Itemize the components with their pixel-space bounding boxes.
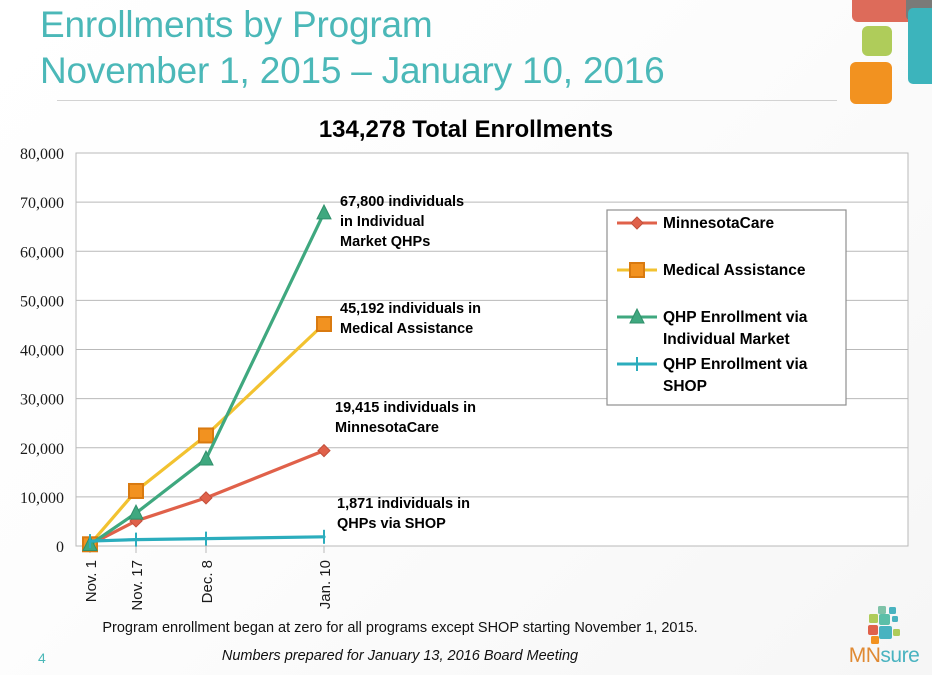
annotation-line: in Individual <box>340 214 425 230</box>
x-axis-tick-label: Nov. 17 <box>129 560 146 611</box>
data-point-marker <box>317 317 331 331</box>
y-axis-tick-label: 20,000 <box>20 441 64 458</box>
mnsure-logo-mark <box>838 604 930 646</box>
annotation-line: Medical Assistance <box>340 321 473 337</box>
annotation-line: 67,800 individuals <box>340 194 464 210</box>
legend-label: QHP Enrollment via <box>663 309 808 326</box>
data-point-marker <box>129 484 143 498</box>
annotation-line: 19,415 individuals in <box>335 400 476 416</box>
annotation-line: MinnesotaCare <box>335 420 439 436</box>
annotation-line: 1,871 individuals in <box>337 496 470 512</box>
legend-label-line2: SHOP <box>663 378 707 395</box>
footnote-text: Program enrollment began at zero for all… <box>0 620 800 636</box>
data-point-marker <box>630 263 644 277</box>
x-axis-tick-label: Dec. 8 <box>199 560 216 603</box>
legend-label: MinnesotaCare <box>663 215 774 232</box>
annotation-line: QHPs via SHOP <box>337 516 446 532</box>
x-axis-tick-label: Nov. 1 <box>83 560 100 602</box>
y-axis-tick-label: 50,000 <box>20 293 64 310</box>
mnsure-logo: MNsure <box>838 604 930 670</box>
enrollment-line-chart: 010,00020,00030,00040,00050,00060,00070,… <box>0 0 932 675</box>
x-axis-tick-label: Jan. 10 <box>317 560 334 609</box>
annotation-line: Market QHPs <box>340 234 430 250</box>
slide-number: 4 <box>38 650 46 666</box>
y-axis-tick-label: 60,000 <box>20 244 64 261</box>
legend-box <box>607 210 846 405</box>
prepared-note: Numbers prepared for January 13, 2016 Bo… <box>0 648 800 664</box>
y-axis-tick-label: 10,000 <box>20 490 64 507</box>
legend-label-line2: Individual Market <box>663 331 790 348</box>
data-point-marker <box>199 428 213 442</box>
logo-sure-text: sure <box>880 644 919 667</box>
slide-canvas: Enrollments by Program November 1, 2015 … <box>0 0 932 675</box>
y-axis-tick-label: 70,000 <box>20 195 64 212</box>
legend-label: QHP Enrollment via <box>663 356 808 373</box>
annotation-line: 45,192 individuals in <box>340 301 481 317</box>
legend-label: Medical Assistance <box>663 262 806 279</box>
mnsure-logo-text: MNsure <box>838 644 930 668</box>
logo-mn-text: MN <box>849 644 881 667</box>
chart-legend: MinnesotaCareMedical AssistanceQHP Enrol… <box>607 210 846 405</box>
y-axis-tick-label: 80,000 <box>20 146 64 163</box>
y-axis-tick-label: 30,000 <box>20 392 64 409</box>
y-axis-tick-label: 40,000 <box>20 343 64 360</box>
y-axis-tick-label: 0 <box>56 539 64 556</box>
